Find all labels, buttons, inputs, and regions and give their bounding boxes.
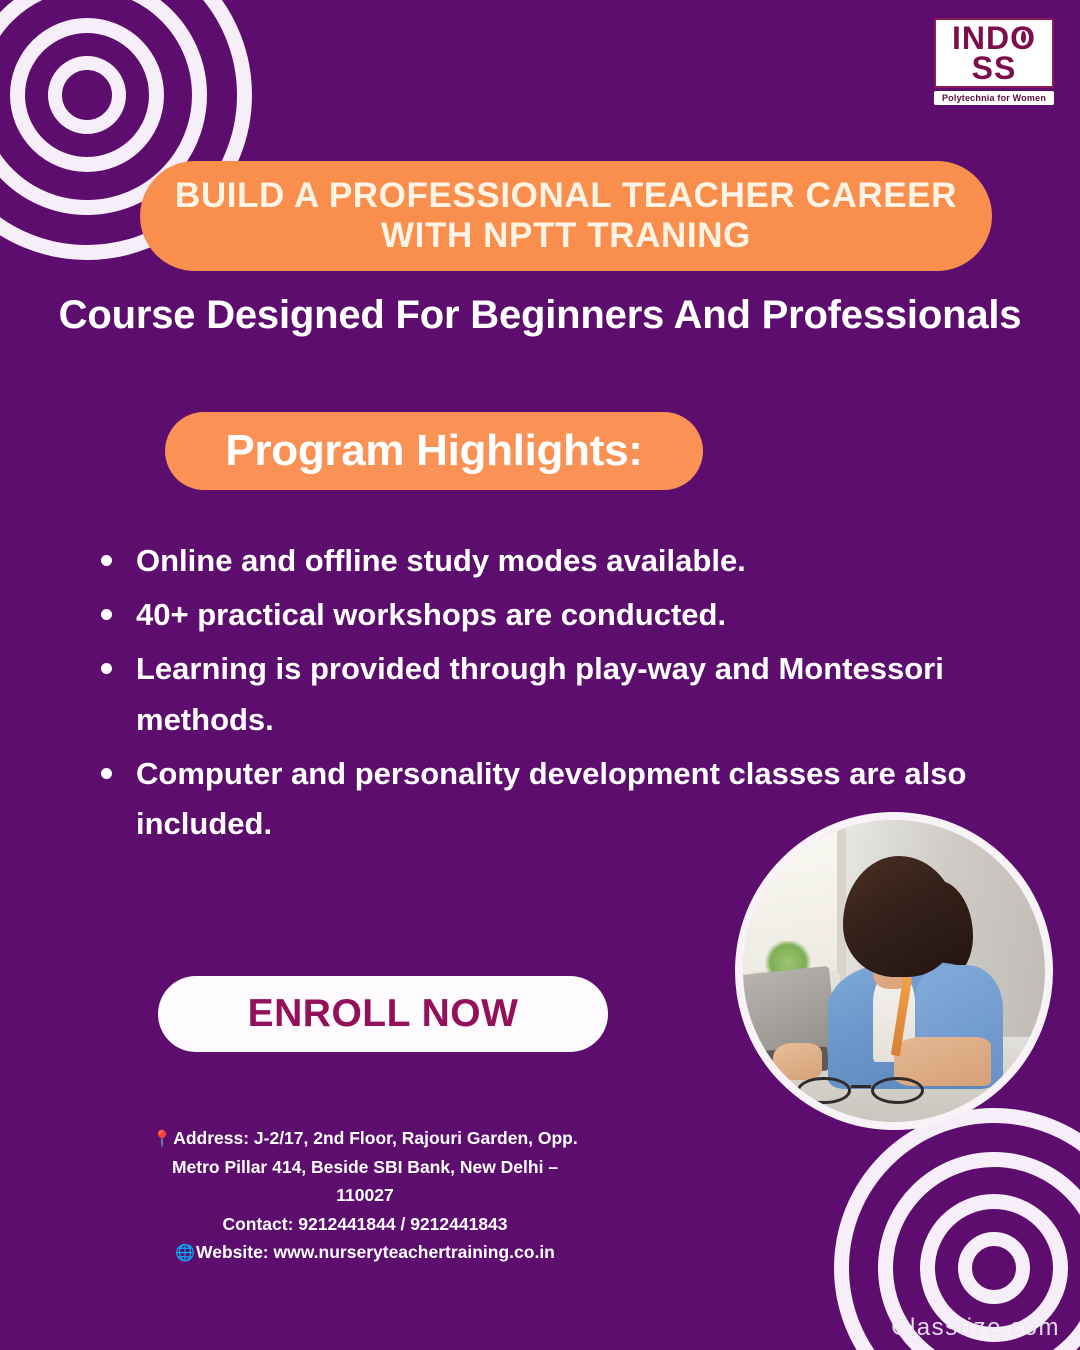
bullet-dot-icon <box>101 768 112 779</box>
highlights-list: Online and offline study modes available… <box>92 536 1057 853</box>
address-line-3: 110027 <box>100 1181 630 1209</box>
photo-hand <box>773 1043 821 1079</box>
contact-block: 📍Address: J-2/17, 2nd Floor, Rajouri Gar… <box>100 1124 630 1267</box>
photo-eyeglasses-bridge <box>851 1085 871 1088</box>
address-line-1-text: Address: J-2/17, 2nd Floor, Rajouri Gard… <box>173 1128 578 1148</box>
student-photo <box>735 812 1053 1130</box>
globe-icon: 🌐 <box>175 1245 195 1262</box>
photo-eyeglasses-lens-right <box>871 1077 924 1104</box>
list-item-text: Online and offline study modes available… <box>136 543 746 578</box>
list-item: 40+ practical workshops are conducted. <box>92 590 1057 640</box>
list-item: Online and offline study modes available… <box>92 536 1057 586</box>
address-line-2: Metro Pillar 414, Beside SBI Bank, New D… <box>100 1153 630 1181</box>
poster-canvas: INDOSS Polytechnia for Women BUILD A PRO… <box>0 0 1080 1350</box>
logo-tagline: Polytechnia for Women <box>934 91 1054 105</box>
enroll-now-button[interactable]: ENROLL NOW <box>158 976 608 1052</box>
website-line-text: Website: www.nurseryteachertraining.co.i… <box>196 1242 555 1262</box>
bullet-dot-icon <box>101 663 112 674</box>
brand-logo: INDOSS Polytechnia for Women <box>934 18 1054 105</box>
photo-eyeglasses-lens-left <box>797 1077 850 1104</box>
program-highlights-banner: Program Highlights: <box>165 412 703 490</box>
headline-banner: BUILD A PROFESSIONAL TEACHER CAREER WITH… <box>140 161 992 271</box>
location-pin-icon: 📍 <box>152 1131 172 1148</box>
logo-o-glyph: O <box>1010 23 1036 53</box>
subtitle-text: Course Designed For Beginners And Profes… <box>0 293 1080 338</box>
logo-wordmark: INDOSS <box>941 23 1047 84</box>
student-photo-image <box>743 820 1045 1122</box>
enroll-now-label: ENROLL NOW <box>248 992 519 1036</box>
list-item: Learning is provided through play-way an… <box>92 644 1057 744</box>
website-line[interactable]: 🌐Website: www.nurseryteachertraining.co.… <box>100 1238 630 1267</box>
list-item-text: 40+ practical workshops are conducted. <box>136 597 726 632</box>
photo-eyeglasses <box>797 1077 924 1104</box>
phone-line[interactable]: Contact: 9212441844 / 9212441843 <box>100 1210 630 1238</box>
bullet-dot-icon <box>101 555 112 566</box>
bullet-dot-icon <box>101 609 112 620</box>
list-item-text: Learning is provided through play-way an… <box>136 651 944 736</box>
site-watermark: Classtize.com <box>891 1314 1060 1342</box>
logo-mark: INDOSS <box>934 18 1054 88</box>
headline-text: BUILD A PROFESSIONAL TEACHER CAREER WITH… <box>175 176 957 257</box>
address-line-1: 📍Address: J-2/17, 2nd Floor, Rajouri Gar… <box>100 1124 630 1153</box>
program-highlights-heading: Program Highlights: <box>225 426 642 476</box>
